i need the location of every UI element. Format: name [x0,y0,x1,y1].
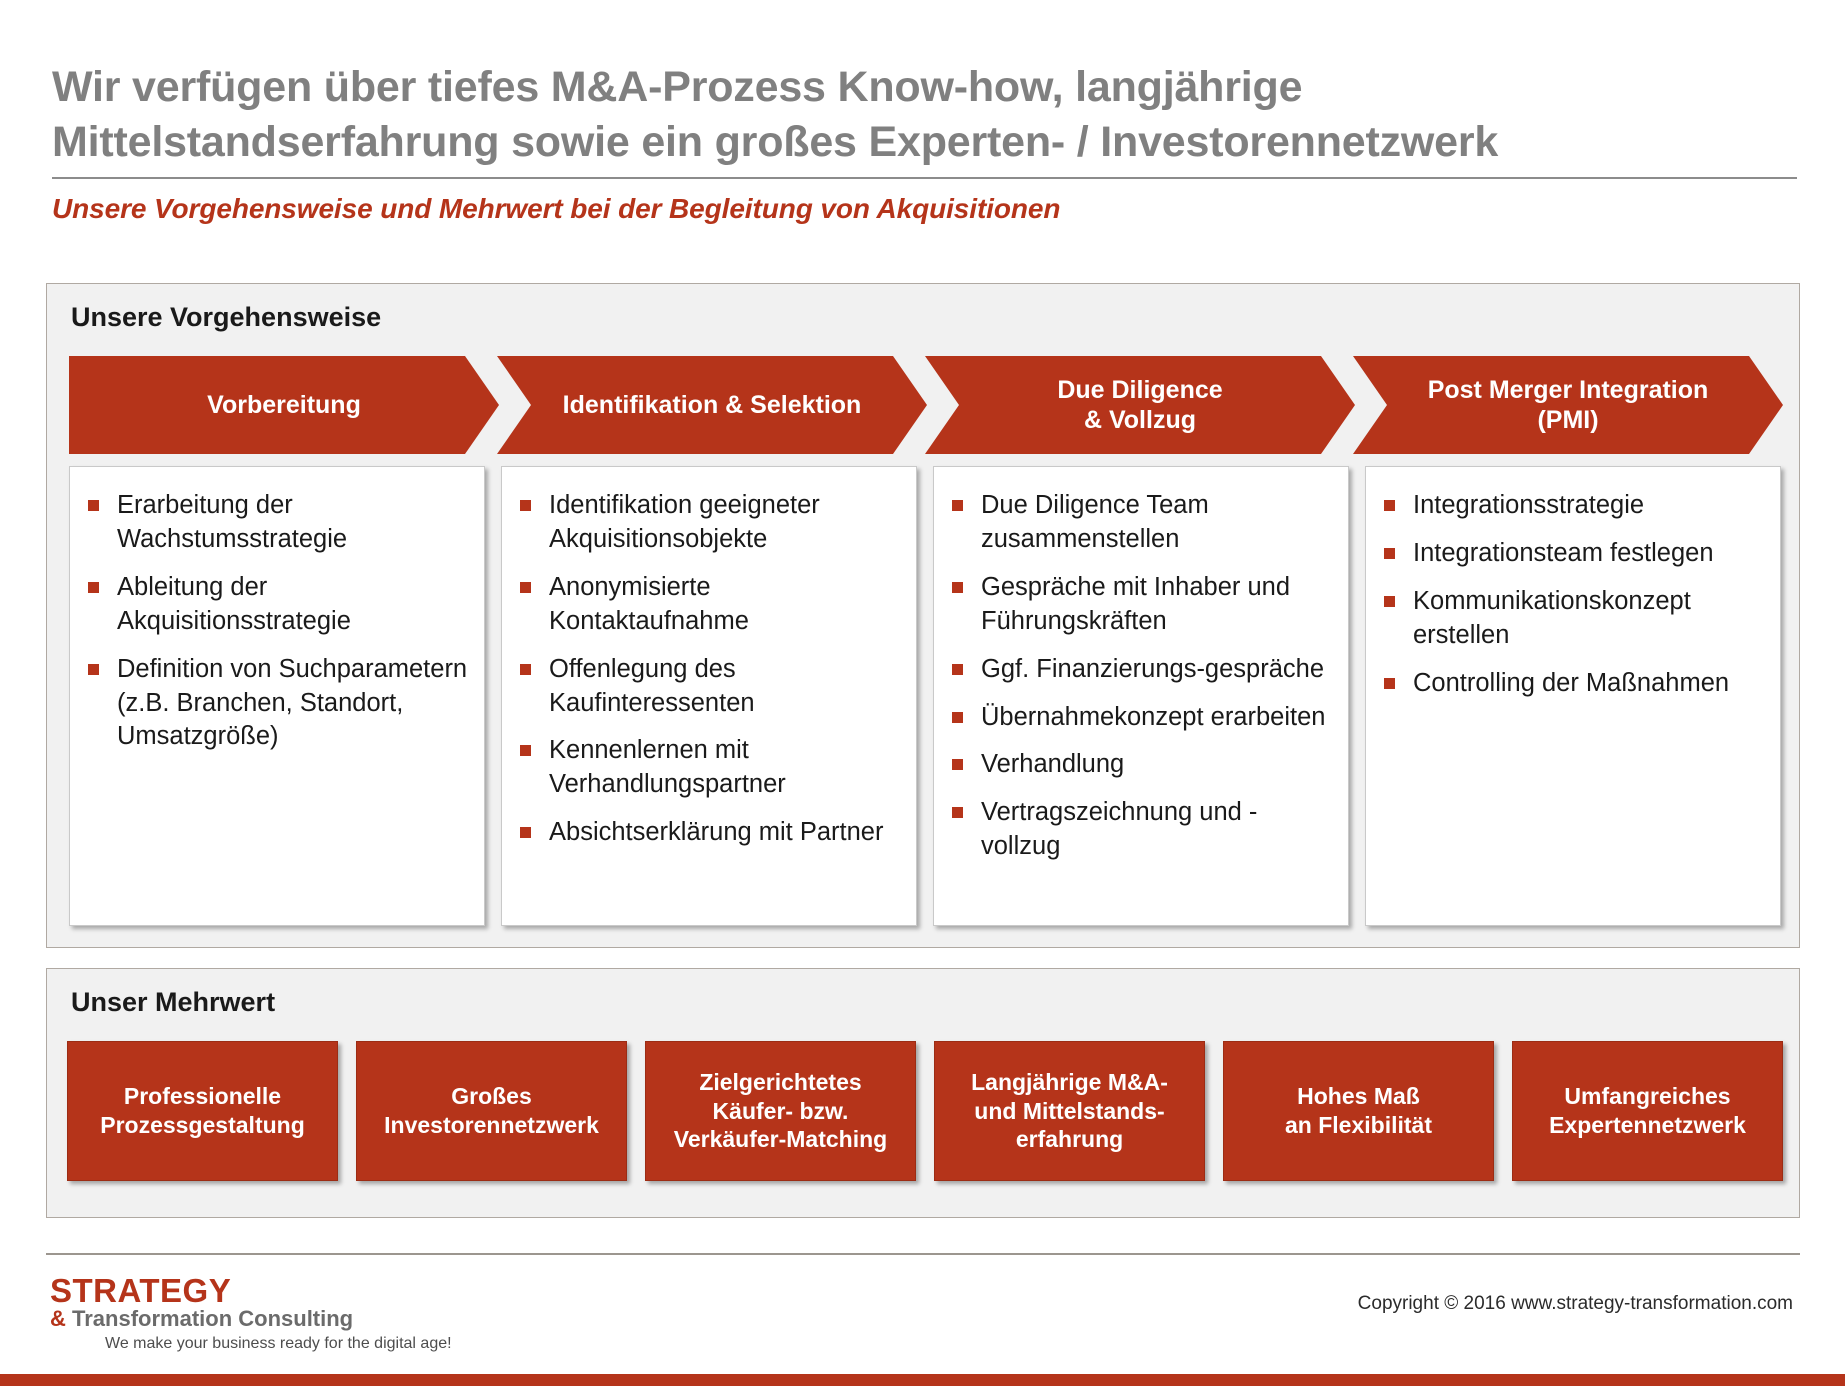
list-item: Gespräche mit Inhaber und Führungskräfte… [952,571,1332,639]
list-item: Due Diligence Team zusammenstellen [952,489,1332,557]
bullet-text: Identifikation geeigneter Akquisitionsob… [549,489,900,557]
phase-card-3: Due Diligence Team zusammenstellen Gespr… [933,466,1349,926]
list-item: Integrationsteam festlegen [1384,537,1764,571]
bullet-text: Kennenlernen mit Verhandlungspartner [549,734,900,802]
slide-header: Wir verfügen über tiefes M&A-Prozess Kno… [52,60,1797,225]
bullet-text: Controlling der Maßnahmen [1413,667,1729,701]
bullet-text: Definition von Suchparametern (z.B. Bran… [117,653,468,755]
square-bullet-icon [1384,678,1395,689]
list-item: Integrationsstrategie [1384,489,1764,523]
process-chevron-label-2: Identifikation & Selektion [497,356,927,454]
process-chevron-2[interactable]: Identifikation & Selektion [497,356,927,454]
square-bullet-icon [952,759,963,770]
list-item: Offenlegung des Kaufinteressenten [520,653,900,721]
process-chevron-4[interactable]: Post Merger Integration (PMI) [1353,356,1783,454]
square-bullet-icon [952,712,963,723]
value-panel: Unser Mehrwert Professionelle Prozessges… [46,968,1800,1218]
value-box-5[interactable]: Hohes Maß an Flexibilität [1223,1041,1494,1181]
bullet-text: Due Diligence Team zusammenstellen [981,489,1332,557]
phase-card-1: Erarbeitung der Wachstumsstrategie Ablei… [69,466,485,926]
slide: Wir verfügen über tiefes M&A-Prozess Kno… [0,0,1845,1386]
square-bullet-icon [952,664,963,675]
list-item: Absichtserklärung mit Partner [520,816,900,850]
list-item: Identifikation geeigneter Akquisitionsob… [520,489,900,557]
square-bullet-icon [1384,548,1395,559]
list-item: Kennenlernen mit Verhandlungspartner [520,734,900,802]
page-title-line-1: Wir verfügen über tiefes M&A-Prozess Kno… [52,60,1797,115]
bullet-text: Verhandlung [981,748,1124,782]
process-chevron-label-1: Vorbereitung [69,356,499,454]
page-title-line-2: Mittelstandserfahrung sowie ein großes E… [52,115,1797,170]
square-bullet-icon [1384,500,1395,511]
logo-main-text: STRATEGY [50,1272,452,1310]
list-item: Anonymisierte Kontaktaufnahme [520,571,900,639]
bottom-accent-bar [0,1374,1845,1386]
phase-card-2: Identifikation geeigneter Akquisitionsob… [501,466,917,926]
process-chevron-label-3: Due Diligence & Vollzug [925,356,1355,454]
list-item: Erarbeitung der Wachstumsstrategie [88,489,468,557]
bullet-text: Integrationsteam festlegen [1413,537,1714,571]
value-box-row: Professionelle Prozessgestaltung Großes … [67,1041,1783,1181]
square-bullet-icon [520,500,531,511]
phase-cards-row: Erarbeitung der Wachstumsstrategie Ablei… [69,466,1781,926]
phase-card-4: Integrationsstrategie Integrationsteam f… [1365,466,1781,926]
list-item: Vertragszeichnung und -vollzug [952,796,1332,864]
square-bullet-icon [520,664,531,675]
square-bullet-icon [952,582,963,593]
phase-bullet-list-4: Integrationsstrategie Integrationsteam f… [1384,489,1764,701]
bullet-text: Vertragszeichnung und -vollzug [981,796,1332,864]
bullet-text: Anonymisierte Kontaktaufnahme [549,571,900,639]
bullet-text: Ggf. Finanzierungs-gespräche [981,653,1324,687]
footer-divider [46,1253,1800,1255]
bullet-text: Ableitung der Akquisitionsstrategie [117,571,468,639]
title-divider [52,177,1797,179]
logo-ampersand: & [50,1306,66,1331]
value-box-1[interactable]: Professionelle Prozessgestaltung [67,1041,338,1181]
bullet-text: Erarbeitung der Wachstumsstrategie [117,489,468,557]
value-box-4[interactable]: Langjährige M&A- und Mittelstands- erfah… [934,1041,1205,1181]
bullet-text: Offenlegung des Kaufinteressenten [549,653,900,721]
logo-tagline: We make your business ready for the digi… [105,1335,452,1353]
process-chevron-row: Vorbereitung Identifikation & Selektion … [69,356,1781,454]
logo-sub-text: & Transformation Consulting [50,1306,452,1332]
phase-bullet-list-1: Erarbeitung der Wachstumsstrategie Ablei… [88,489,468,754]
bullet-text: Übernahmekonzept erarbeiten [981,701,1325,735]
process-chevron-1[interactable]: Vorbereitung [69,356,499,454]
list-item: Ggf. Finanzierungs-gespräche [952,653,1332,687]
list-item: Ableitung der Akquisitionsstrategie [88,571,468,639]
bullet-text: Integrationsstrategie [1413,489,1644,523]
logo-sub-rest: Transformation Consulting [66,1306,353,1331]
page-subtitle: Unsere Vorgehensweise und Mehrwert bei d… [52,193,1797,225]
value-box-3[interactable]: Zielgerichtetes Käufer- bzw. Verkäufer-M… [645,1041,916,1181]
process-chevron-3[interactable]: Due Diligence & Vollzug [925,356,1355,454]
list-item: Verhandlung [952,748,1332,782]
square-bullet-icon [952,500,963,511]
square-bullet-icon [88,500,99,511]
list-item: Controlling der Maßnahmen [1384,667,1764,701]
company-logo: STRATEGY & Transformation Consulting We … [50,1272,452,1353]
page-title: Wir verfügen über tiefes M&A-Prozess Kno… [52,60,1797,170]
approach-panel: Unsere Vorgehensweise Vorbereitung Ident… [46,283,1800,948]
value-panel-heading: Unser Mehrwert [71,987,275,1018]
square-bullet-icon [88,582,99,593]
phase-bullet-list-3: Due Diligence Team zusammenstellen Gespr… [952,489,1332,864]
square-bullet-icon [520,745,531,756]
square-bullet-icon [88,664,99,675]
square-bullet-icon [1384,596,1395,607]
bullet-text: Kommunikationskonzept erstellen [1413,585,1764,653]
square-bullet-icon [520,582,531,593]
approach-panel-heading: Unsere Vorgehensweise [71,302,381,333]
bullet-text: Absichtserklärung mit Partner [549,816,883,850]
copyright-text: Copyright © 2016 www.strategy-transforma… [1358,1293,1793,1315]
list-item: Kommunikationskonzept erstellen [1384,585,1764,653]
list-item: Übernahmekonzept erarbeiten [952,701,1332,735]
phase-bullet-list-2: Identifikation geeigneter Akquisitionsob… [520,489,900,850]
list-item: Definition von Suchparametern (z.B. Bran… [88,653,468,755]
value-box-2[interactable]: Großes Investorennetzwerk [356,1041,627,1181]
square-bullet-icon [520,827,531,838]
process-chevron-label-4: Post Merger Integration (PMI) [1353,356,1783,454]
value-box-6[interactable]: Umfangreiches Expertennetzwerk [1512,1041,1783,1181]
bullet-text: Gespräche mit Inhaber und Führungskräfte… [981,571,1332,639]
square-bullet-icon [952,807,963,818]
